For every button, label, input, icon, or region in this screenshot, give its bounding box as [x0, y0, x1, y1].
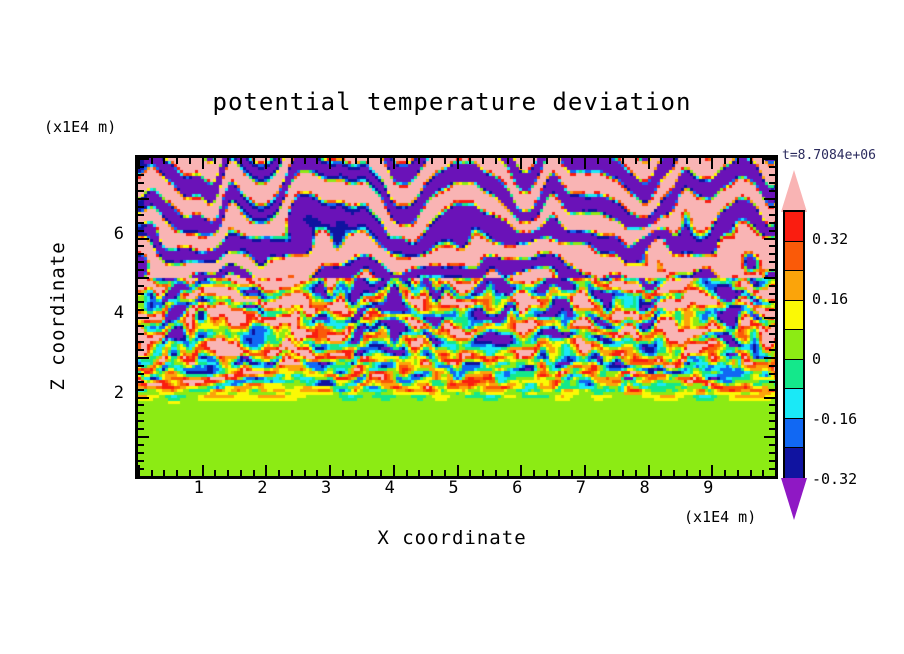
y-minor-tick — [138, 166, 144, 168]
x-major-tick — [393, 465, 395, 476]
page-title: potential temperature deviation — [0, 88, 904, 116]
x-major-tick — [265, 465, 267, 476]
y-tick-label: 6 — [94, 224, 124, 244]
x-minor-tick — [214, 470, 216, 476]
colorbar-tick-label: 0.32 — [812, 230, 848, 248]
colorbar-tick-label: 0 — [812, 350, 821, 368]
x-minor-tick — [278, 470, 280, 476]
x-major-tick — [138, 465, 140, 476]
y-minor-tick — [138, 333, 144, 335]
x-tick-label: 2 — [242, 478, 282, 498]
y-tick-label: 2 — [94, 383, 124, 403]
x-major-tick — [202, 158, 204, 169]
x-minor-tick — [240, 158, 242, 164]
x-minor-tick — [558, 158, 560, 164]
x-minor-tick — [316, 470, 318, 476]
x-tick-label: 1 — [179, 478, 219, 498]
x-minor-tick — [495, 470, 497, 476]
x-minor-tick — [622, 158, 624, 164]
x-minor-tick — [724, 470, 726, 476]
x-minor-tick — [571, 158, 573, 164]
x-minor-tick — [227, 470, 229, 476]
x-minor-tick — [750, 158, 752, 164]
x-minor-tick — [469, 158, 471, 164]
x-minor-tick — [227, 158, 229, 164]
x-minor-tick — [622, 470, 624, 476]
y-minor-tick — [769, 341, 775, 343]
x-minor-tick — [673, 158, 675, 164]
x-minor-tick — [367, 470, 369, 476]
x-minor-tick — [546, 158, 548, 164]
y-minor-tick — [769, 468, 775, 470]
y-tick-label: 4 — [94, 303, 124, 323]
x-major-tick — [775, 158, 777, 169]
x-minor-tick — [253, 470, 255, 476]
y-minor-tick — [769, 349, 775, 351]
x-minor-tick — [699, 470, 701, 476]
y-unit-label: (x1E4 m) — [44, 118, 116, 136]
y-minor-tick — [138, 325, 144, 327]
colorbar-under-arrow-icon — [781, 478, 807, 520]
y-minor-tick — [138, 412, 144, 414]
y-minor-tick — [769, 214, 775, 216]
colorbar-band — [785, 448, 803, 478]
y-minor-tick — [138, 444, 144, 446]
y-minor-tick — [138, 293, 144, 295]
colorbar-band — [785, 330, 803, 360]
x-minor-tick — [304, 158, 306, 164]
y-minor-tick — [769, 412, 775, 414]
x-minor-tick — [635, 158, 637, 164]
y-minor-tick — [138, 174, 144, 176]
y-major-tick — [138, 436, 149, 438]
x-major-tick — [520, 465, 522, 476]
colorbar-band — [785, 242, 803, 272]
x-minor-tick — [571, 470, 573, 476]
y-minor-tick — [138, 373, 144, 375]
x-minor-tick — [737, 470, 739, 476]
y-minor-tick — [138, 309, 144, 311]
time-annotation: t=8.7084e+06 — [782, 148, 876, 163]
y-major-tick — [138, 238, 149, 240]
x-major-tick — [457, 158, 459, 169]
y-major-tick — [138, 277, 149, 279]
x-minor-tick — [380, 158, 382, 164]
temperature-deviation-field — [138, 158, 775, 476]
x-major-tick — [329, 465, 331, 476]
x-major-tick — [711, 465, 713, 476]
y-minor-tick — [769, 166, 775, 168]
y-axis-title: Z coordinate — [47, 196, 69, 436]
y-minor-tick — [769, 309, 775, 311]
x-minor-tick — [533, 158, 535, 164]
x-minor-tick — [418, 470, 420, 476]
y-minor-tick — [138, 301, 144, 303]
y-minor-tick — [769, 381, 775, 383]
y-minor-tick — [138, 182, 144, 184]
x-minor-tick — [597, 158, 599, 164]
y-minor-tick — [138, 285, 144, 287]
y-major-tick — [764, 397, 775, 399]
y-minor-tick — [769, 452, 775, 454]
x-major-tick — [775, 465, 777, 476]
colorbar-band — [785, 212, 803, 242]
y-minor-tick — [138, 381, 144, 383]
y-minor-tick — [138, 349, 144, 351]
x-minor-tick — [176, 158, 178, 164]
x-tick-label: 7 — [561, 478, 601, 498]
x-minor-tick — [304, 470, 306, 476]
x-minor-tick — [316, 158, 318, 164]
x-major-tick — [457, 465, 459, 476]
y-minor-tick — [138, 389, 144, 391]
colorbar[interactable] — [781, 170, 807, 520]
y-major-tick — [764, 357, 775, 359]
x-tick-label: 3 — [306, 478, 346, 498]
y-minor-tick — [138, 420, 144, 422]
x-minor-tick — [240, 470, 242, 476]
x-major-tick — [711, 158, 713, 169]
x-minor-tick — [444, 158, 446, 164]
y-minor-tick — [138, 190, 144, 192]
x-minor-tick — [355, 470, 357, 476]
x-minor-tick — [253, 158, 255, 164]
x-minor-tick — [431, 158, 433, 164]
x-tick-label: 4 — [370, 478, 410, 498]
y-major-tick — [764, 317, 775, 319]
y-minor-tick — [138, 214, 144, 216]
y-minor-tick — [769, 389, 775, 391]
colorbar-band — [785, 419, 803, 449]
y-minor-tick — [138, 222, 144, 224]
y-minor-tick — [138, 468, 144, 470]
x-minor-tick — [189, 158, 191, 164]
x-axis-title: X coordinate — [0, 527, 904, 549]
y-minor-tick — [769, 460, 775, 462]
y-minor-tick — [769, 261, 775, 263]
x-major-tick — [265, 158, 267, 169]
y-minor-tick — [138, 206, 144, 208]
x-major-tick — [202, 465, 204, 476]
y-major-tick — [764, 476, 775, 478]
y-minor-tick — [769, 293, 775, 295]
y-minor-tick — [769, 285, 775, 287]
x-minor-tick — [291, 470, 293, 476]
x-major-tick — [648, 465, 650, 476]
y-minor-tick — [138, 404, 144, 406]
y-major-tick — [764, 277, 775, 279]
y-minor-tick — [138, 253, 144, 255]
x-minor-tick — [558, 470, 560, 476]
x-minor-tick — [406, 158, 408, 164]
x-minor-tick — [214, 158, 216, 164]
x-minor-tick — [189, 470, 191, 476]
x-minor-tick — [609, 158, 611, 164]
y-minor-tick — [769, 428, 775, 430]
x-minor-tick — [163, 470, 165, 476]
x-minor-tick — [660, 158, 662, 164]
y-minor-tick — [769, 253, 775, 255]
colorbar-tick-label: 0.16 — [812, 290, 848, 308]
y-minor-tick — [769, 182, 775, 184]
x-minor-tick — [737, 158, 739, 164]
x-tick-label: 6 — [497, 478, 537, 498]
x-minor-tick — [151, 158, 153, 164]
y-minor-tick — [769, 333, 775, 335]
x-minor-tick — [342, 158, 344, 164]
x-minor-tick — [546, 470, 548, 476]
x-minor-tick — [431, 470, 433, 476]
y-minor-tick — [138, 428, 144, 430]
y-minor-tick — [138, 460, 144, 462]
x-major-tick — [520, 158, 522, 169]
x-tick-label: 8 — [625, 478, 665, 498]
y-minor-tick — [769, 269, 775, 271]
x-minor-tick — [495, 158, 497, 164]
x-major-tick — [329, 158, 331, 169]
y-major-tick — [138, 317, 149, 319]
x-minor-tick — [507, 470, 509, 476]
colorbar-band — [785, 389, 803, 419]
colorbar-band — [785, 271, 803, 301]
colorbar-segments — [783, 210, 805, 480]
y-minor-tick — [138, 245, 144, 247]
x-major-tick — [648, 158, 650, 169]
colorbar-tick-label: -0.32 — [812, 470, 857, 488]
y-major-tick — [138, 357, 149, 359]
x-minor-tick — [673, 470, 675, 476]
x-minor-tick — [724, 158, 726, 164]
y-major-tick — [138, 397, 149, 399]
y-minor-tick — [769, 373, 775, 375]
x-minor-tick — [469, 470, 471, 476]
x-minor-tick — [342, 470, 344, 476]
y-minor-tick — [769, 190, 775, 192]
x-minor-tick — [597, 470, 599, 476]
x-tick-label: 5 — [434, 478, 474, 498]
y-major-tick — [138, 198, 149, 200]
x-tick-label: 9 — [688, 478, 728, 498]
x-minor-tick — [750, 470, 752, 476]
y-minor-tick — [769, 301, 775, 303]
x-minor-tick — [418, 158, 420, 164]
x-major-tick — [584, 465, 586, 476]
y-major-tick — [764, 198, 775, 200]
y-minor-tick — [769, 222, 775, 224]
x-minor-tick — [444, 470, 446, 476]
colorbar-over-arrow-icon — [781, 170, 807, 212]
y-minor-tick — [138, 452, 144, 454]
y-major-tick — [764, 238, 775, 240]
x-minor-tick — [507, 158, 509, 164]
x-minor-tick — [482, 470, 484, 476]
y-major-tick — [764, 436, 775, 438]
x-minor-tick — [635, 470, 637, 476]
x-major-tick — [393, 158, 395, 169]
x-minor-tick — [151, 470, 153, 476]
x-minor-tick — [699, 158, 701, 164]
y-major-tick — [138, 476, 149, 478]
y-minor-tick — [138, 261, 144, 263]
y-minor-tick — [769, 404, 775, 406]
x-minor-tick — [406, 470, 408, 476]
colorbar-band — [785, 360, 803, 390]
y-minor-tick — [769, 245, 775, 247]
y-minor-tick — [769, 174, 775, 176]
y-minor-tick — [138, 230, 144, 232]
y-minor-tick — [769, 325, 775, 327]
colorbar-band — [785, 301, 803, 331]
y-minor-tick — [769, 420, 775, 422]
x-minor-tick — [278, 158, 280, 164]
colorbar-tick-label: -0.16 — [812, 410, 857, 428]
y-minor-tick — [769, 444, 775, 446]
y-minor-tick — [769, 365, 775, 367]
y-major-tick — [138, 158, 149, 160]
y-minor-tick — [138, 341, 144, 343]
x-unit-label: (x1E4 m) — [684, 508, 756, 526]
x-minor-tick — [380, 470, 382, 476]
x-minor-tick — [609, 470, 611, 476]
x-minor-tick — [686, 158, 688, 164]
y-minor-tick — [138, 365, 144, 367]
contour-plot-area[interactable] — [135, 155, 778, 479]
y-minor-tick — [769, 230, 775, 232]
x-minor-tick — [355, 158, 357, 164]
y-major-tick — [764, 158, 775, 160]
x-minor-tick — [367, 158, 369, 164]
x-minor-tick — [482, 158, 484, 164]
x-minor-tick — [176, 470, 178, 476]
y-minor-tick — [769, 206, 775, 208]
x-minor-tick — [291, 158, 293, 164]
x-minor-tick — [533, 470, 535, 476]
x-minor-tick — [686, 470, 688, 476]
x-minor-tick — [660, 470, 662, 476]
y-minor-tick — [138, 269, 144, 271]
x-major-tick — [584, 158, 586, 169]
x-minor-tick — [163, 158, 165, 164]
